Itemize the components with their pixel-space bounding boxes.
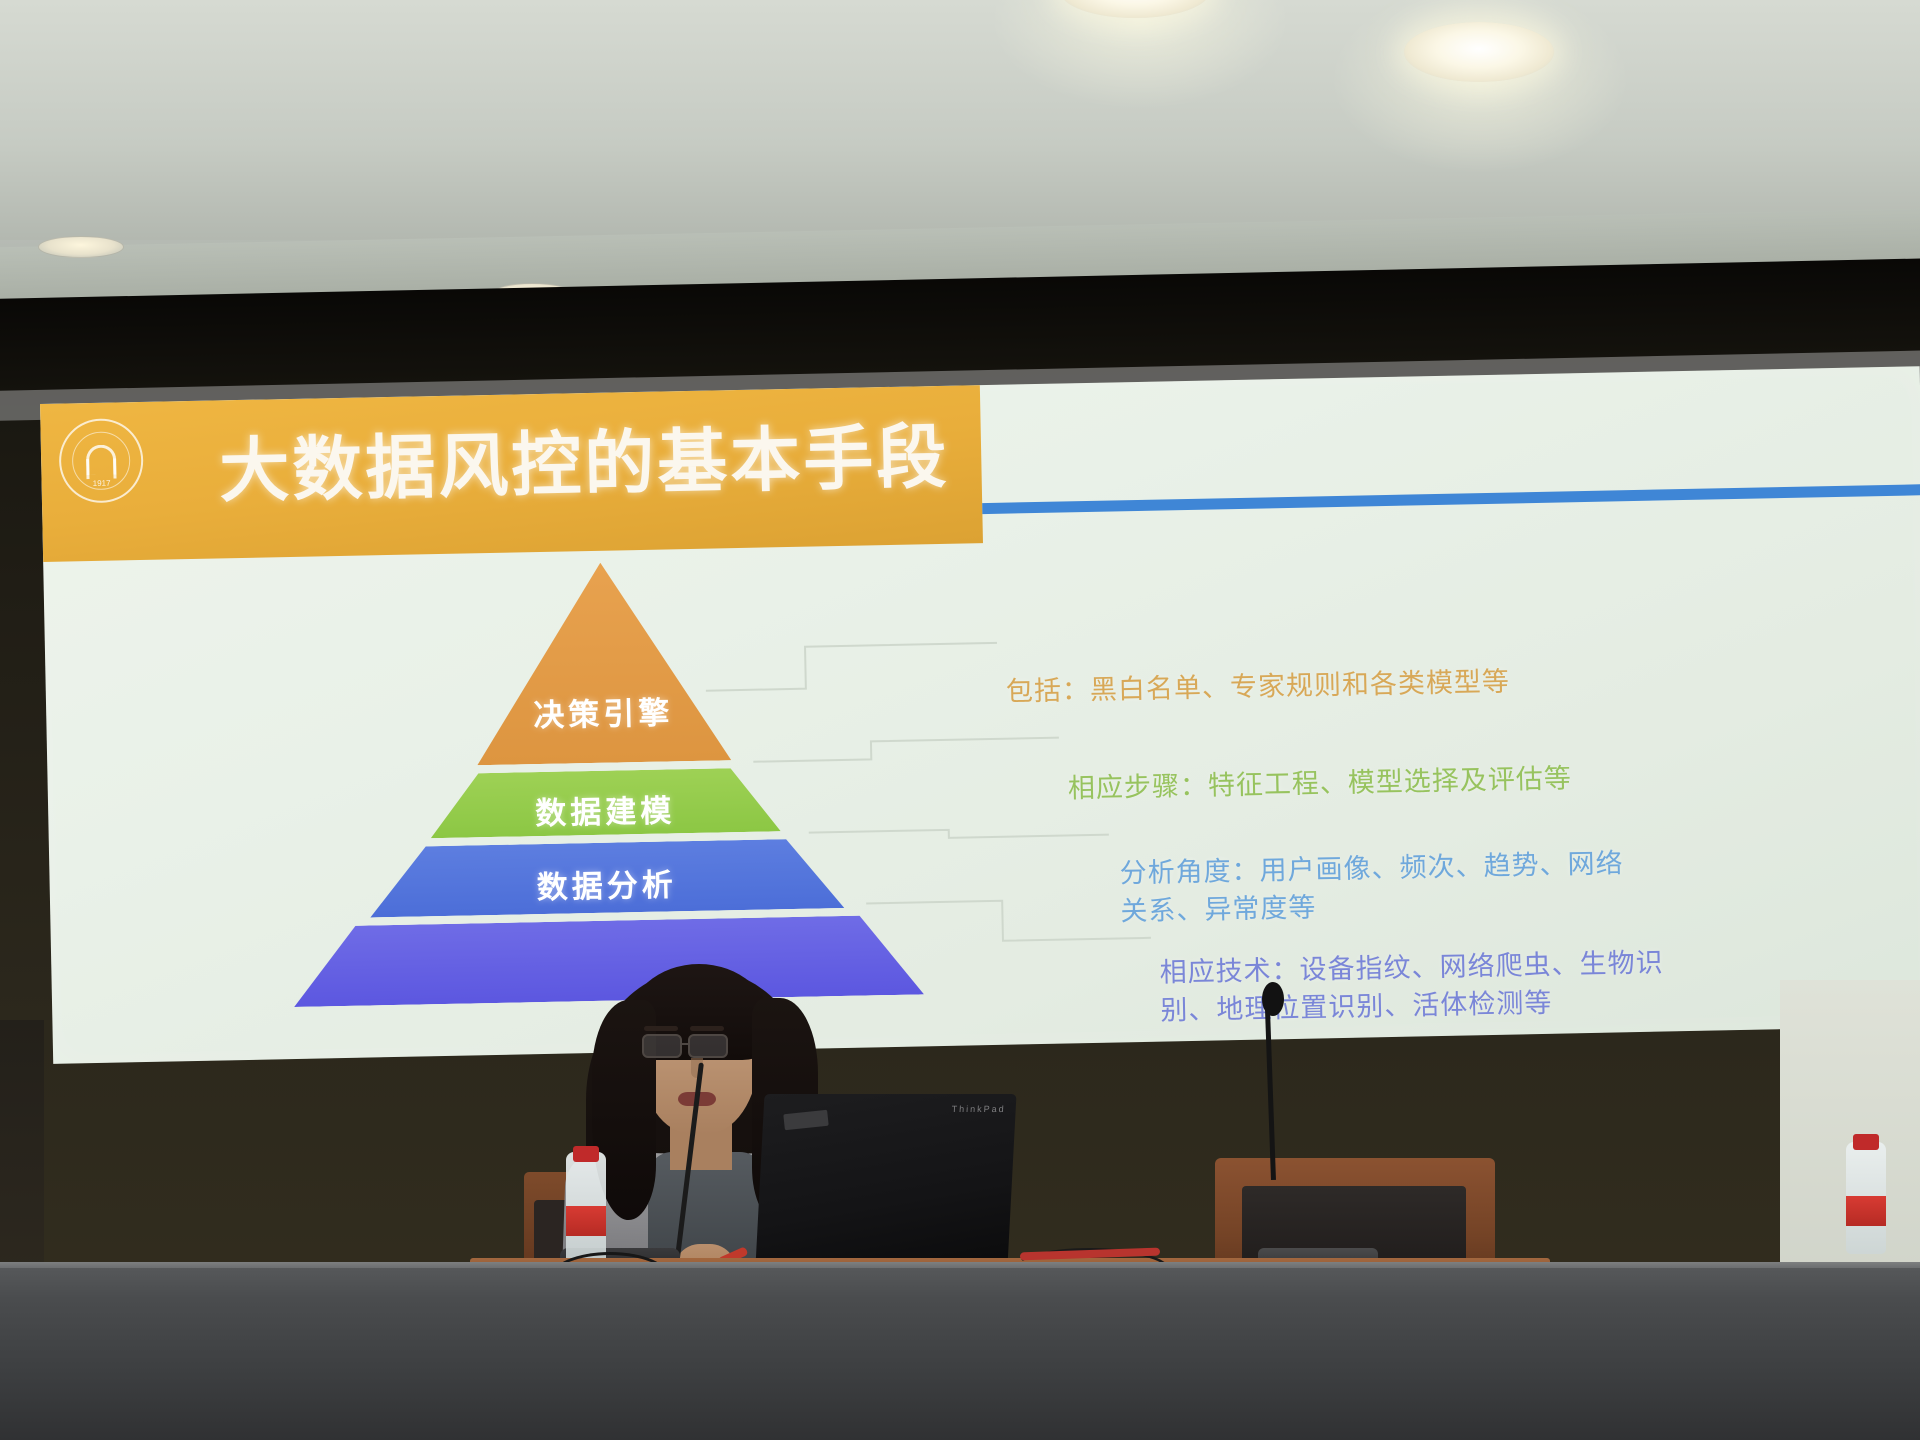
water-bottle-cap-right: [1853, 1134, 1879, 1150]
glasses-bridge: [682, 1043, 690, 1045]
lecture-hall-photo: 1917 大数据风控的基本手段 决策引擎 数据建模: [0, 0, 1920, 1440]
pyramid-tier-data-analysis: 数据分析: [369, 838, 844, 917]
downlight-2: [1404, 22, 1554, 82]
glasses-lens-right-icon: [688, 1034, 728, 1058]
pyramid-tier-data-modeling: 数据建模: [430, 767, 781, 838]
presenter-brow-left: [644, 1026, 678, 1031]
laptop-brand-label: ThinkPad: [951, 1104, 1006, 1114]
ceiling-panel: [0, 0, 1920, 240]
water-bottle-label-right: [1846, 1196, 1886, 1226]
pyramid-tier-label: 数据分析: [369, 856, 844, 911]
stage-front: [0, 1268, 1920, 1440]
glasses-lens-left-icon: [642, 1034, 682, 1058]
downlight-3: [38, 236, 124, 258]
water-bottle-cap-left: [573, 1146, 599, 1162]
projection-screen: 1917 大数据风控的基本手段 决策引擎 数据建模: [40, 366, 1920, 1064]
pyramid-tier-decision-engine: 决策引擎: [473, 560, 731, 765]
water-bottle-label-left: [566, 1206, 606, 1236]
presenter-brow-right: [690, 1026, 724, 1031]
slide-surface: 1917 大数据风控的基本手段 决策引擎 数据建模: [40, 366, 1920, 1064]
annotation-data-collection: 相应技术：设备指纹、网络爬虫、生物识 别、地理位置识别、活体检测等: [1159, 942, 1730, 1030]
pyramid-tier-label: 决策引擎: [476, 686, 731, 736]
pyramid-tier-label: 数据建模: [430, 783, 781, 835]
annotation-data-analysis: 分析角度：用户画像、频次、趋势、网络 关系、异常度等: [1119, 843, 1690, 931]
